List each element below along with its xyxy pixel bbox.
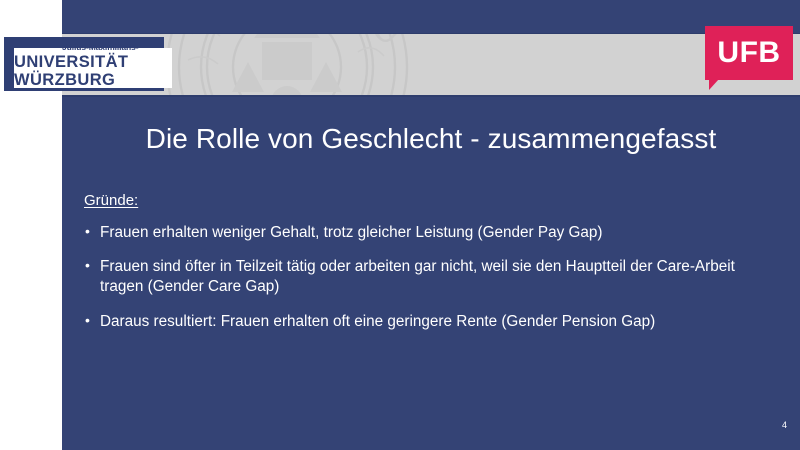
list-item: Daraus resultiert: Frauen erhalten oft e… <box>84 312 774 332</box>
slide-body: Gründe: Frauen erhalten weniger Gehalt, … <box>84 192 774 332</box>
ufb-logo: UFB <box>705 26 793 88</box>
ufb-logo-tail-icon <box>709 79 719 90</box>
list-item: Frauen erhalten weniger Gehalt, trotz gl… <box>84 223 774 243</box>
university-claim: Julius-Maximilians- <box>62 43 262 52</box>
body-lead-label: Gründe: <box>84 192 774 209</box>
university-name-line2: WÜRZBURG <box>14 72 262 89</box>
university-name-line1: UNIVERSITÄT <box>14 54 262 71</box>
university-logo-text: Julius-Maximilians- UNIVERSITÄT WÜRZBURG <box>62 43 262 89</box>
page-number: 4 <box>782 420 787 430</box>
presentation-slide: 15 83 B U N Julius- <box>0 0 800 450</box>
slide-title: Die Rolle von Geschlecht - zusammengefas… <box>62 123 800 155</box>
header-band-bottom-rule <box>62 95 800 97</box>
list-item: Frauen sind öfter in Teilzeit tätig oder… <box>84 257 774 297</box>
bullet-list: Frauen erhalten weniger Gehalt, trotz gl… <box>84 223 774 332</box>
ufb-logo-label: UFB <box>705 26 793 80</box>
